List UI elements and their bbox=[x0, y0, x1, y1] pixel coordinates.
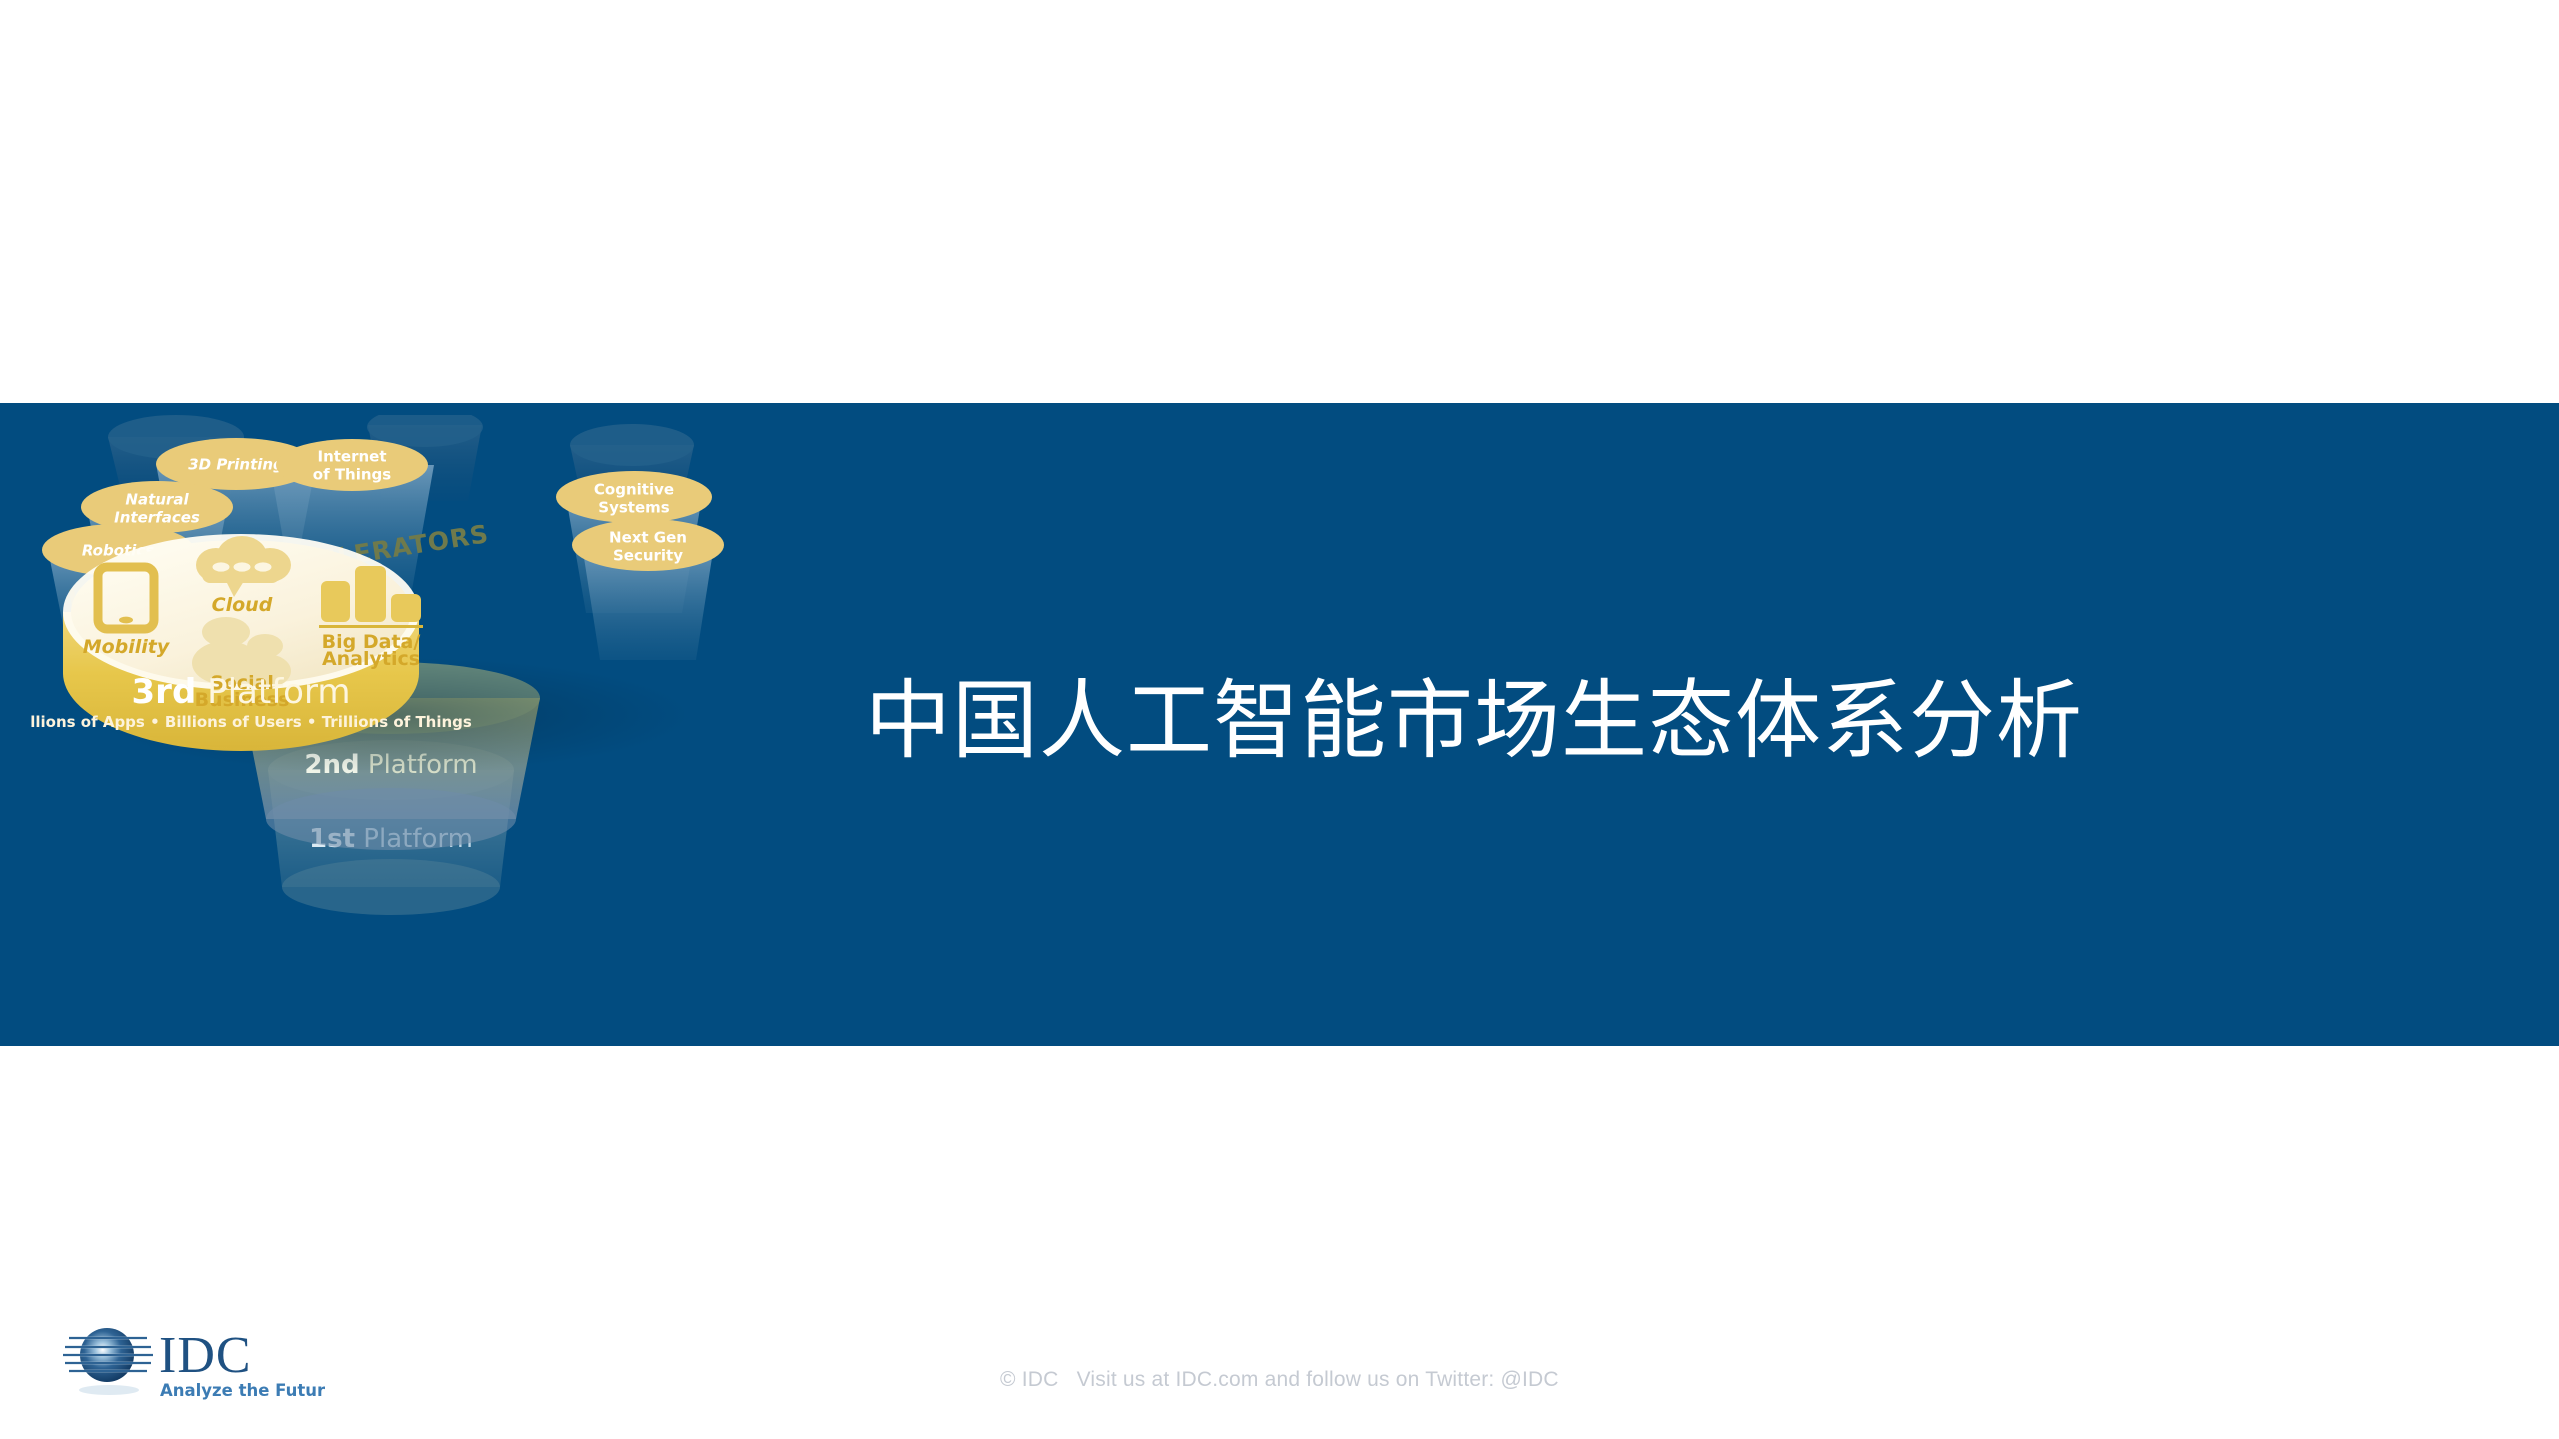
accelerator-label-cognitive-systems-line2: Systems bbox=[598, 499, 669, 517]
platform-3rd-word: Platform bbox=[207, 672, 350, 712]
platform-3rd-ordinal: 3rd bbox=[132, 672, 197, 712]
accelerator-bubble-internet-of-things[interactable]: Internet of Things bbox=[276, 439, 428, 491]
accelerator-bubble-cognitive-systems[interactable]: Cognitive Systems bbox=[556, 471, 712, 523]
accelerator-label-next-gen-security-line1: Next Gen bbox=[609, 529, 687, 547]
idc-tagline: Analyze the Future bbox=[160, 1381, 325, 1400]
page-title: 中国人工智能市场生态体系分析 bbox=[865, 672, 2365, 771]
accelerator-label-internet-of-things-line1: Internet bbox=[317, 448, 386, 466]
accelerator-label-internet-of-things-line2: of Things bbox=[313, 466, 392, 484]
accelerator-label-next-gen-security-line2: Security bbox=[613, 547, 683, 565]
accelerator-label-cognitive-systems-line1: Cognitive bbox=[594, 481, 674, 499]
accelerator-bubble-next-gen-security[interactable]: Next Gen Security bbox=[572, 519, 724, 571]
idc-logo: IDC Analyze the Future bbox=[55, 1310, 325, 1410]
globe-icon bbox=[63, 1328, 153, 1395]
svg-text:3rd Platform: 3rd Platform bbox=[132, 672, 351, 712]
accelerator-label-natural-interfaces-line2: Interfaces bbox=[114, 509, 200, 527]
platform-3rd-subtitle: Millions of Apps • Billions of Users • T… bbox=[30, 713, 472, 731]
idc-wordmark: IDC bbox=[159, 1327, 252, 1384]
accelerator-label-natural-interfaces-line1: Natural bbox=[125, 491, 189, 509]
pillar-label-big-data-line2: Analytics bbox=[322, 648, 420, 670]
pillar-label-mobility: Mobility bbox=[83, 636, 171, 658]
accelerator-label-3d-printing: 3D Printing bbox=[188, 456, 284, 474]
third-platform-diagram: INNOVATION ACCELERATORS 3D Printing Inte… bbox=[30, 415, 760, 1035]
pillar-label-cloud: Cloud bbox=[212, 594, 273, 616]
footer-copyright-note: © IDC Visit us at IDC.com and follow us … bbox=[1000, 1368, 1559, 1392]
